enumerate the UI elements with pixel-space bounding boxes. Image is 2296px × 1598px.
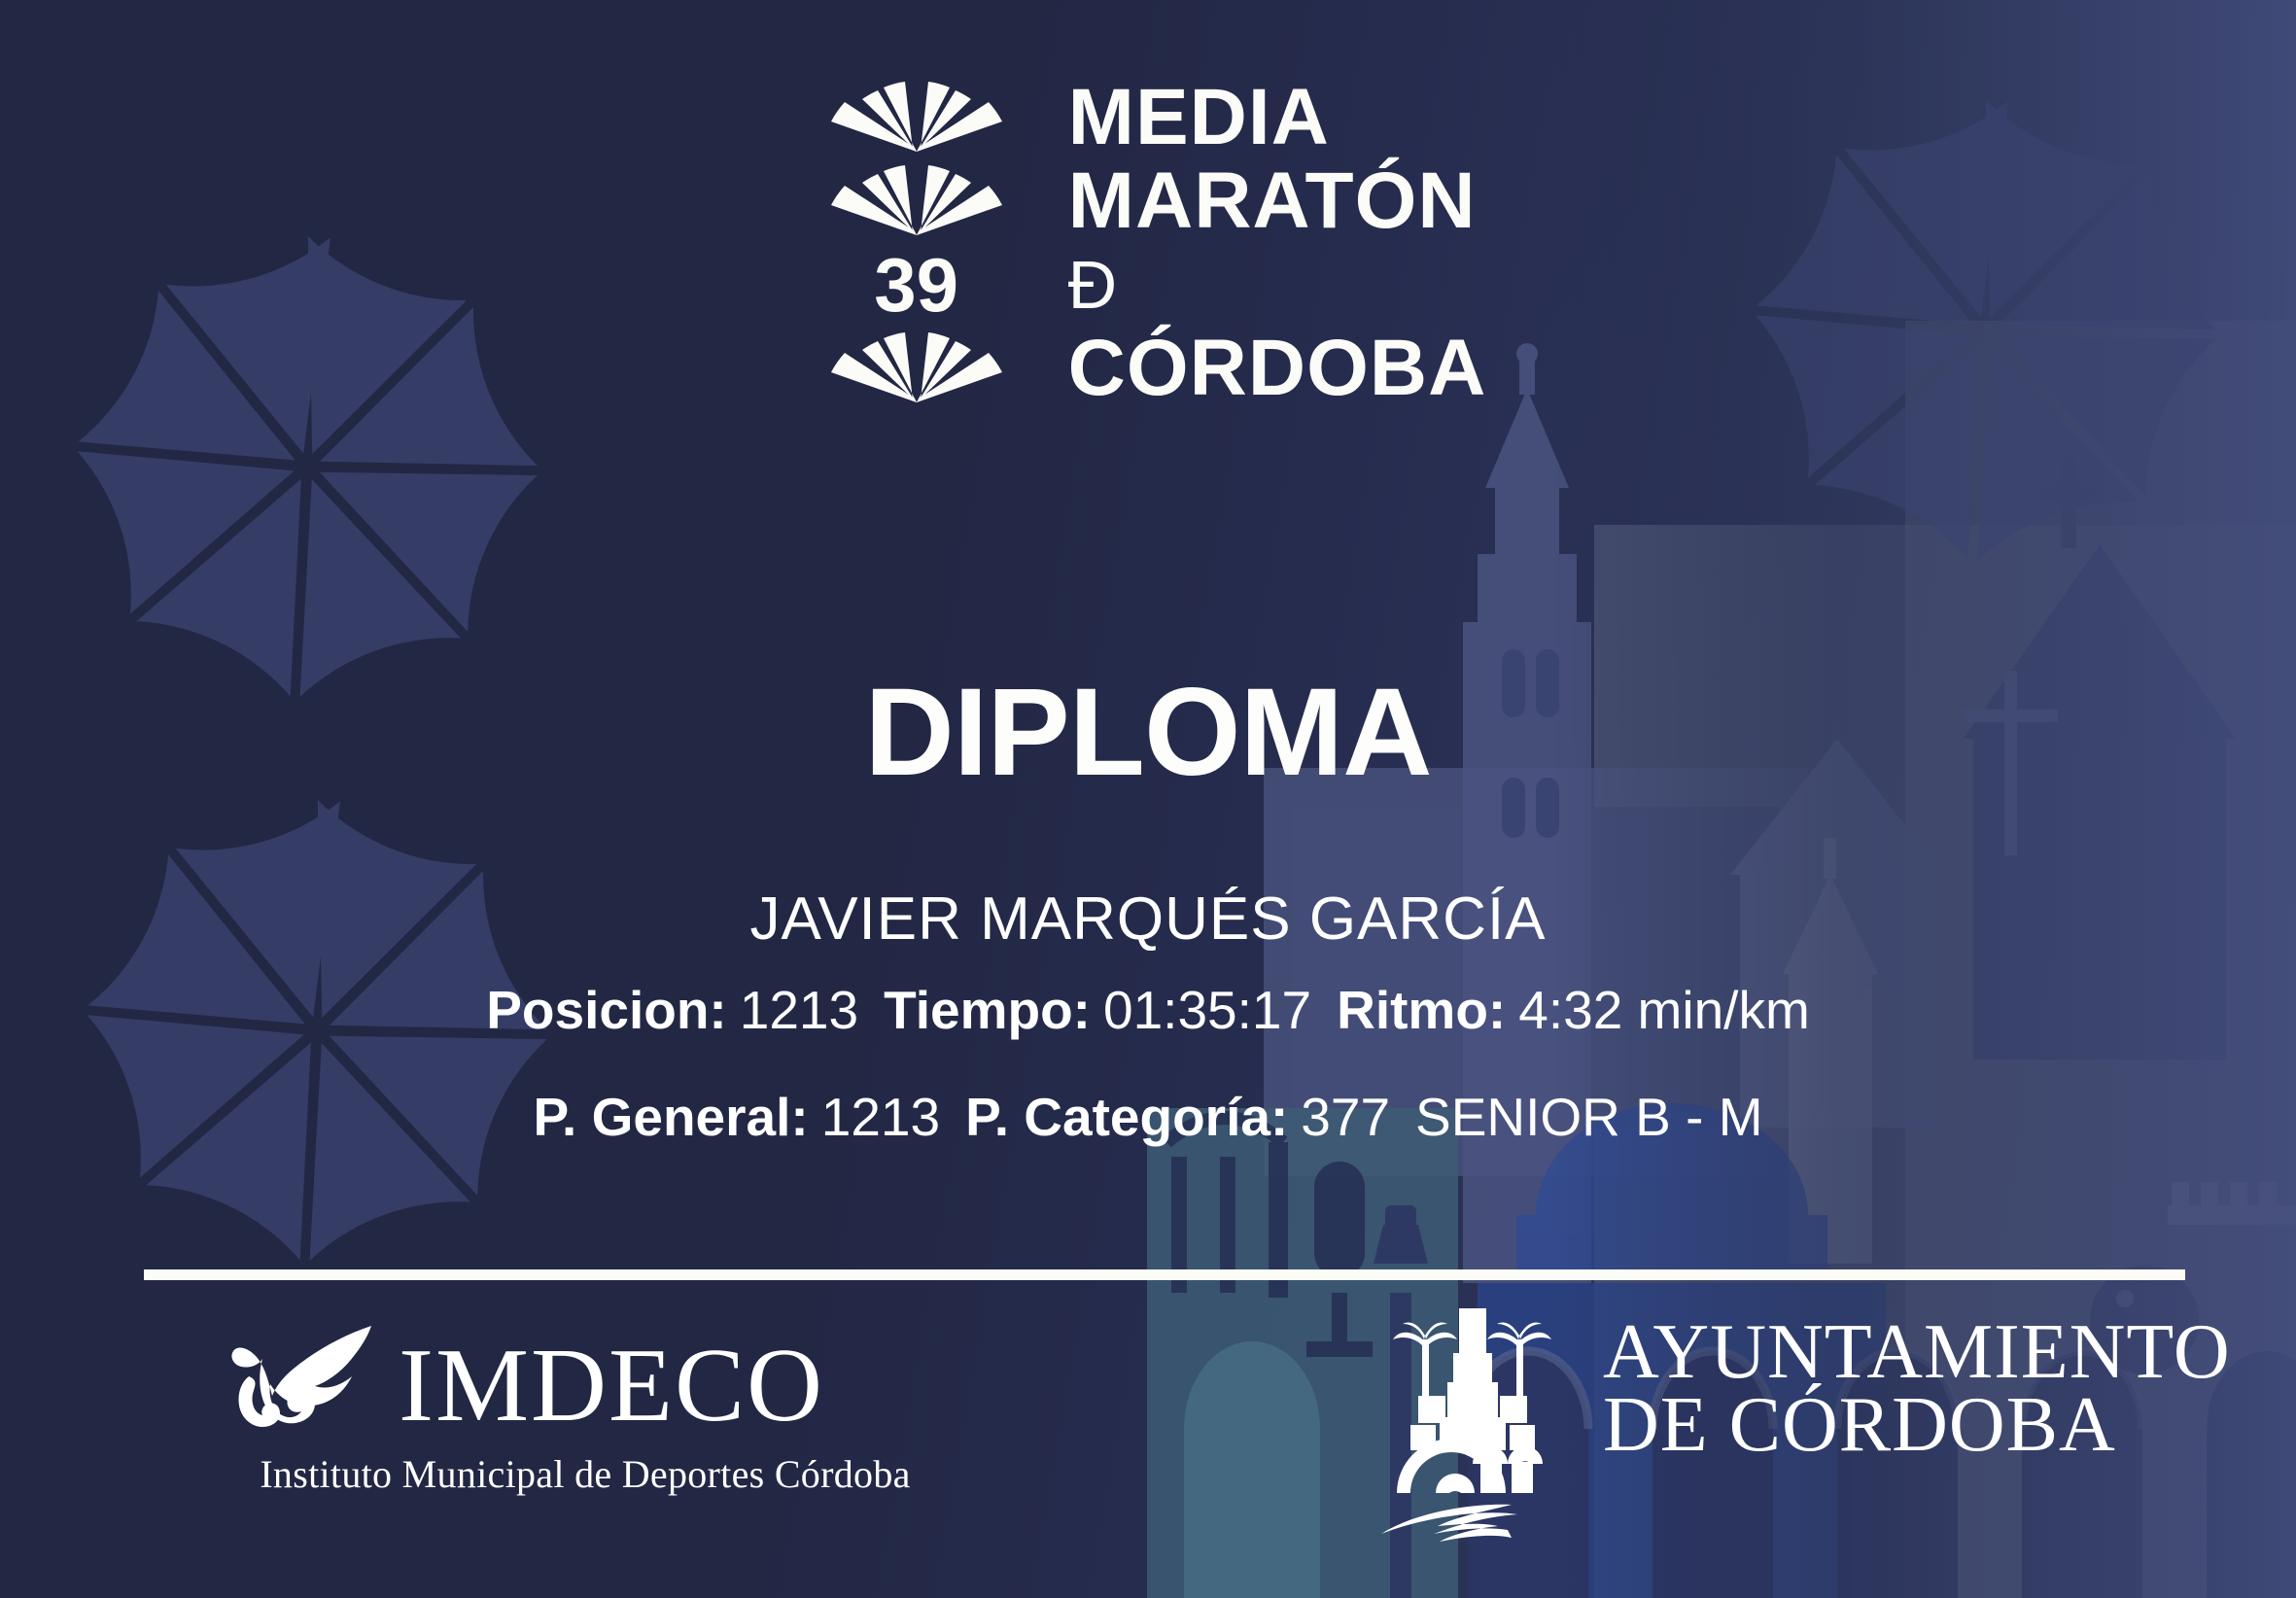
- imdeco-wordmark: IMDECO: [399, 1337, 824, 1434]
- stats-row-2: P. General:1213P. Categoría:377SENIOR B …: [0, 1091, 2296, 1144]
- event-logo: MEDIA MARATÓN 39 Ð: [0, 76, 2296, 410]
- ayuntamiento-line-2: DE CÓRDOBA: [1603, 1389, 2231, 1462]
- stat-value-pcategoria: 377: [1301, 1087, 1390, 1147]
- stat-label-ritmo: Ritmo:: [1337, 980, 1506, 1040]
- ayuntamiento-line-1: AYUNTAMIENTO: [1603, 1316, 2231, 1389]
- section-divider: [144, 1269, 2185, 1280]
- sponsor-ayuntamiento: AYUNTAMIENTO DE CÓRDOBA: [1375, 1303, 2231, 1546]
- imdeco-tagline: Instituto Municipal de Deportes Córdoba: [226, 1451, 945, 1497]
- cordoba-coat-of-arms-icon: [1375, 1303, 1570, 1546]
- logo-edition-number: 39: [810, 243, 1024, 327]
- sponsor-imdeco: IMDECO Instituto Municipal de Deportes C…: [226, 1322, 964, 1497]
- stat-label-tiempo: Tiempo:: [884, 980, 1091, 1040]
- stat-label-pgeneral: P. General:: [533, 1087, 808, 1147]
- runner-name: JAVIER MARQUÉS GARCÍA: [0, 889, 2296, 950]
- stat-value-tiempo: 01:35:17: [1103, 980, 1311, 1040]
- fan-rays-icon: [810, 327, 1024, 410]
- logo-line-maraton: MARATÓN: [1068, 159, 1487, 243]
- stat-value-categoria-name: SENIOR B - M: [1415, 1087, 1763, 1147]
- page-title: DIPLOMA: [0, 671, 2296, 795]
- stats-row-1: Posicion:1213Tiempo:01:35:17Ritmo:4:32 m…: [0, 984, 2296, 1037]
- fan-rays-icon: [810, 159, 1024, 243]
- fan-rays-icon: [810, 76, 1024, 159]
- stat-value-pgeneral: 1213: [821, 1087, 940, 1147]
- imdeco-wing-icon: [226, 1322, 381, 1434]
- stat-label-posicion: Posicion:: [486, 980, 727, 1040]
- diploma-canvas: MEDIA MARATÓN 39 Ð: [0, 0, 2296, 1598]
- stat-value-ritmo: 4:32 min/km: [1518, 980, 1810, 1040]
- logo-separator-glyph: Ð: [1068, 243, 1487, 327]
- stat-label-pcategoria: P. Categoría:: [965, 1087, 1288, 1147]
- logo-line-cordoba: CÓRDOBA: [1068, 327, 1487, 410]
- stat-value-posicion: 1213: [740, 980, 858, 1040]
- logo-line-media: MEDIA: [1068, 76, 1487, 159]
